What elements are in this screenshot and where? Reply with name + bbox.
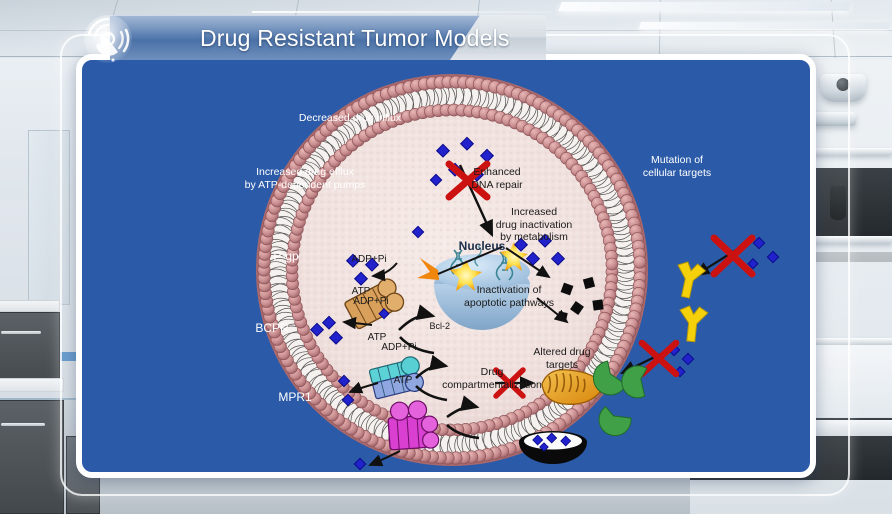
- diagram-svg: [82, 60, 816, 478]
- label-bcpr-adp: ADP+Pi: [344, 296, 398, 307]
- label-p-gp: P-gp: [260, 250, 312, 263]
- label-increased-drug-inactivation: Increased drug inactivation by metabolis…: [474, 206, 594, 244]
- red-x-mutation: [714, 238, 752, 274]
- receptor-2: [677, 305, 709, 343]
- receptor-1: [672, 260, 707, 300]
- tumor-cell-diagram: Decreased drug influx Increased drug eff…: [82, 60, 810, 472]
- red-x-altered: [642, 343, 676, 374]
- mutated-receptors: [672, 260, 709, 343]
- label-bcl-2: Bcl-2: [402, 321, 450, 332]
- label-increased-drug-efflux: Increased drug efflux by ATP-dependent p…: [210, 166, 400, 191]
- cabinet-lower-left: [0, 400, 64, 514]
- header-banner: Drug Resistant Tumor Models: [76, 14, 546, 61]
- cabinet-counter-top: [0, 300, 60, 312]
- label-enhanced-dna-repair: Enhanced DNA repair: [442, 166, 552, 191]
- circular-swirl-logo-icon: [80, 12, 136, 68]
- label-mutation-of-cellular-targets: Mutation of cellular targets: [607, 154, 747, 179]
- drug-compartment-vesicle: [519, 431, 587, 464]
- page-title: Drug Resistant Tumor Models: [200, 25, 510, 52]
- label-bcpr: BCPR: [242, 322, 302, 335]
- cabinet-divider: [0, 378, 64, 392]
- label-p-gp-adp: ADP+Pi: [342, 254, 396, 265]
- protein-3: [592, 399, 635, 442]
- label-drug-compartmentalization: Drug compartmentalization: [412, 366, 572, 391]
- label-mpr1-adp: ADP+Pi: [372, 342, 426, 353]
- label-decreased-drug-influx: Decreased drug influx: [260, 112, 440, 125]
- banner-accent-line: [252, 11, 552, 13]
- label-mpr1-atp: ATP: [382, 375, 424, 386]
- content-panel: Decreased drug influx Increased drug eff…: [76, 54, 816, 478]
- label-inactivation-apoptotic-pathways: Inactivation of apoptotic pathways: [434, 284, 584, 309]
- label-mpr1: MPR1: [264, 391, 326, 404]
